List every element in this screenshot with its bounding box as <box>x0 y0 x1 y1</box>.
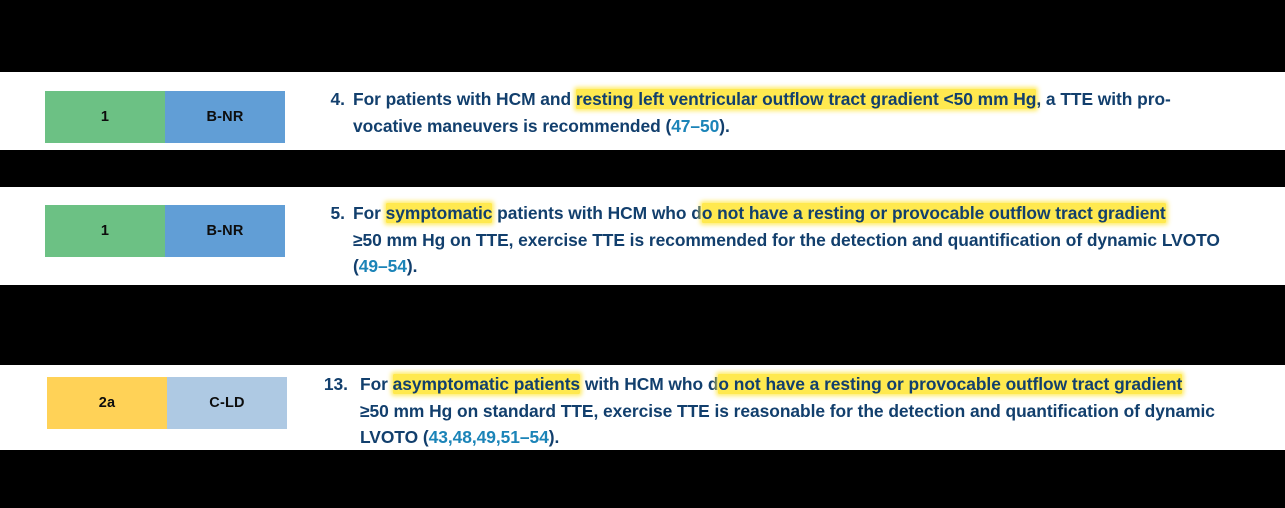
cor-loe-badge-4: 1 B-NR <box>45 91 285 143</box>
recommendation-block-13: 2a C-LD 13. For asymptomatic patients wi… <box>0 365 1285 450</box>
loe-badge: B-NR <box>165 205 285 257</box>
recommendation-number: 13. <box>300 371 348 398</box>
text-line: ≥50 mm Hg on TTE, exercise TTE is recomm… <box>353 227 1220 254</box>
loe-badge: B-NR <box>165 91 285 143</box>
recommendation-number: 5. <box>305 200 345 227</box>
text-line: ≥50 mm Hg on standard TTE, exercise TTE … <box>360 398 1215 425</box>
text-line: For asymptomatic patients with HCM who d… <box>360 371 1215 398</box>
slide-canvas: 1 B-NR 4. For patients with HCM and rest… <box>0 0 1285 508</box>
recommendation-block-4: 1 B-NR 4. For patients with HCM and rest… <box>0 72 1285 150</box>
text-segment: LVOTO ( <box>360 427 429 447</box>
text-segment: vocative maneuvers is recommended ( <box>353 116 671 136</box>
text-line: (49–54). <box>353 253 1220 280</box>
highlighted-segment: o not have a resting or provocable outfl… <box>718 374 1182 394</box>
text-line: For patients with HCM and resting left v… <box>353 86 1171 113</box>
text-line: For symptomatic patients with HCM who do… <box>353 200 1220 227</box>
text-segment: patients with HCM who d <box>492 203 701 223</box>
cor-badge: 1 <box>45 205 165 257</box>
text-line: vocative maneuvers is recommended (47–50… <box>353 113 1171 140</box>
text-segment: For <box>360 374 393 394</box>
recommendation-number: 4. <box>305 86 345 113</box>
text-segment: ≥50 mm Hg on TTE, exercise TTE is recomm… <box>353 230 1220 250</box>
loe-badge: C-LD <box>167 377 287 429</box>
highlighted-segment: symptomatic <box>386 203 493 223</box>
text-segment: For patients with HCM and <box>353 89 576 109</box>
text-segment: with HCM who d <box>580 374 718 394</box>
recommendation-text: For asymptomatic patients with HCM who d… <box>360 371 1215 451</box>
reference-link[interactable]: 49–54 <box>359 256 407 276</box>
cor-loe-badge-5: 1 B-NR <box>45 205 285 257</box>
text-segment: ). <box>719 116 730 136</box>
recommendation-text: For symptomatic patients with HCM who do… <box>353 200 1220 280</box>
reference-link[interactable]: 43,48,49,51–54 <box>429 427 549 447</box>
highlighted-segment: asymptomatic patients <box>393 374 580 394</box>
text-segment: ). <box>549 427 560 447</box>
recommendation-block-5: 1 B-NR 5. For symptomatic patients with … <box>0 187 1285 285</box>
text-line: LVOTO (43,48,49,51–54). <box>360 424 1215 451</box>
text-segment: ≥50 mm Hg on standard TTE, exercise TTE … <box>360 401 1215 421</box>
text-segment: ). <box>407 256 418 276</box>
highlighted-segment: o not have a resting or provocable outfl… <box>702 203 1166 223</box>
cor-loe-badge-13: 2a C-LD <box>47 377 287 429</box>
text-segment: , a TTE with pro- <box>1036 89 1170 109</box>
text-segment: For <box>353 203 386 223</box>
recommendation-text: For patients with HCM and resting left v… <box>353 86 1171 139</box>
cor-badge: 1 <box>45 91 165 143</box>
cor-badge: 2a <box>47 377 167 429</box>
reference-link[interactable]: 47–50 <box>671 116 719 136</box>
highlighted-segment: resting left ventricular outflow tract g… <box>576 89 1037 109</box>
